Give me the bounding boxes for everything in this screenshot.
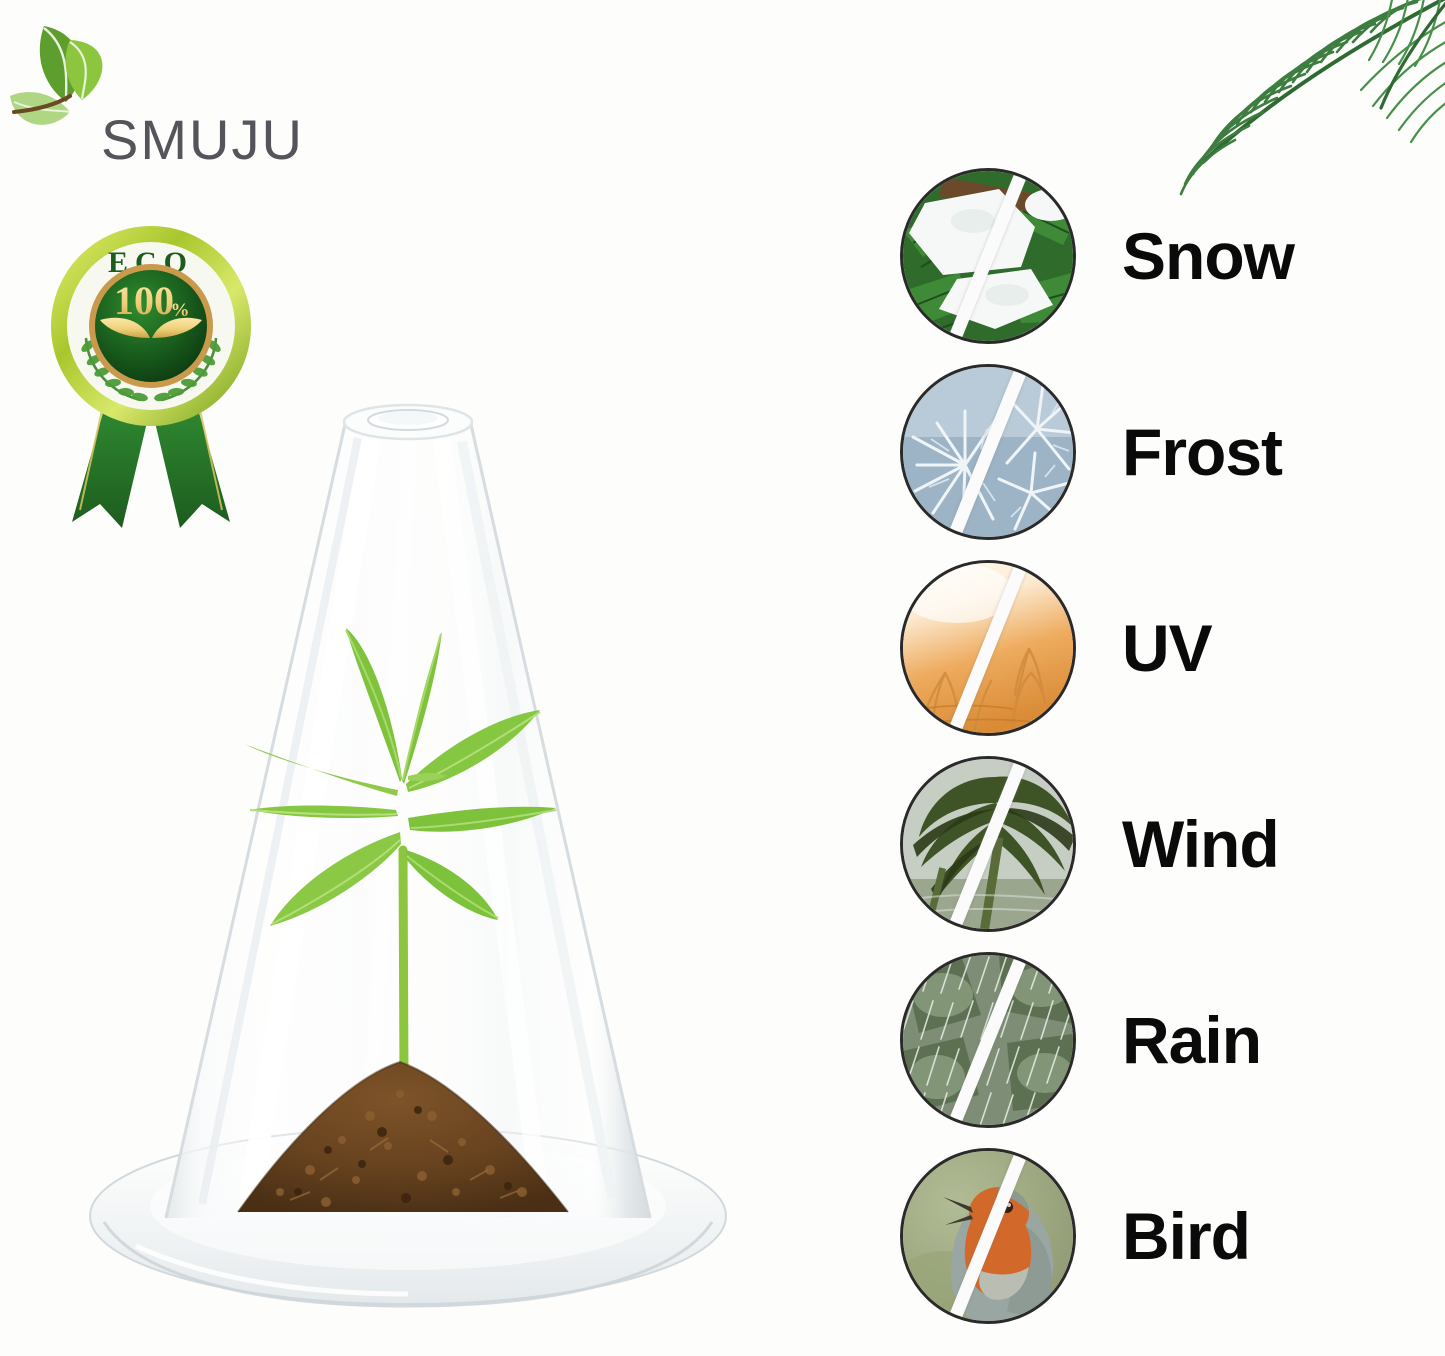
snow-covered-pine-photo xyxy=(900,168,1076,344)
sun-scorched-field-photo xyxy=(900,560,1076,736)
feature-label-rain: Rain xyxy=(1122,1007,1261,1073)
frosted-branch-photo xyxy=(900,364,1076,540)
robin-bird-photo xyxy=(900,1148,1076,1324)
feature-label-uv: UV xyxy=(1122,615,1212,681)
feature-item-wind[interactable]: Wind xyxy=(900,756,1440,932)
brand-logo: SMUJU xyxy=(8,18,368,168)
storm-palm-trees-photo xyxy=(900,756,1076,932)
heavy-rain-photo xyxy=(900,952,1076,1128)
brand-wordmark: SMUJU xyxy=(101,112,304,168)
feature-item-uv[interactable]: UV xyxy=(900,560,1440,736)
feature-list: Snow xyxy=(900,168,1440,1348)
glass-cloche-plant-cover xyxy=(70,380,860,1340)
feature-label-snow: Snow xyxy=(1122,223,1294,289)
infographic-canvas: SMUJU xyxy=(0,0,1445,1356)
top-vent-opening xyxy=(344,405,472,439)
feature-item-snow[interactable]: Snow xyxy=(900,168,1440,344)
feature-item-bird[interactable]: Bird xyxy=(900,1148,1440,1324)
feature-item-rain[interactable]: Rain xyxy=(900,952,1440,1128)
feature-label-bird: Bird xyxy=(1122,1203,1250,1269)
badge-100-text: 100 xyxy=(114,278,174,323)
feature-label-wind: Wind xyxy=(1122,811,1279,877)
feature-label-frost: Frost xyxy=(1122,419,1282,485)
feature-item-frost[interactable]: Frost xyxy=(900,364,1440,540)
